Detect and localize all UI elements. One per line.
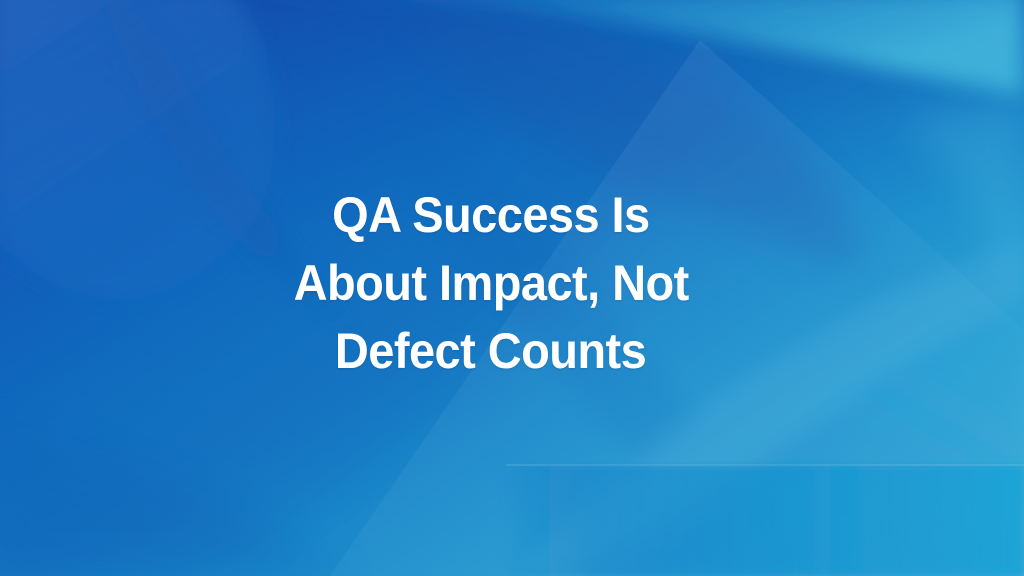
title-slide: QA Success Is About Impact, Not Defect C… (0, 0, 1024, 576)
headline-line-1: QA Success Is (332, 181, 649, 249)
headline-line-2: About Impact, Not (293, 249, 688, 317)
headline-block: QA Success Is About Impact, Not Defect C… (0, 0, 1024, 576)
headline-line-3: Defect Counts (335, 317, 646, 385)
